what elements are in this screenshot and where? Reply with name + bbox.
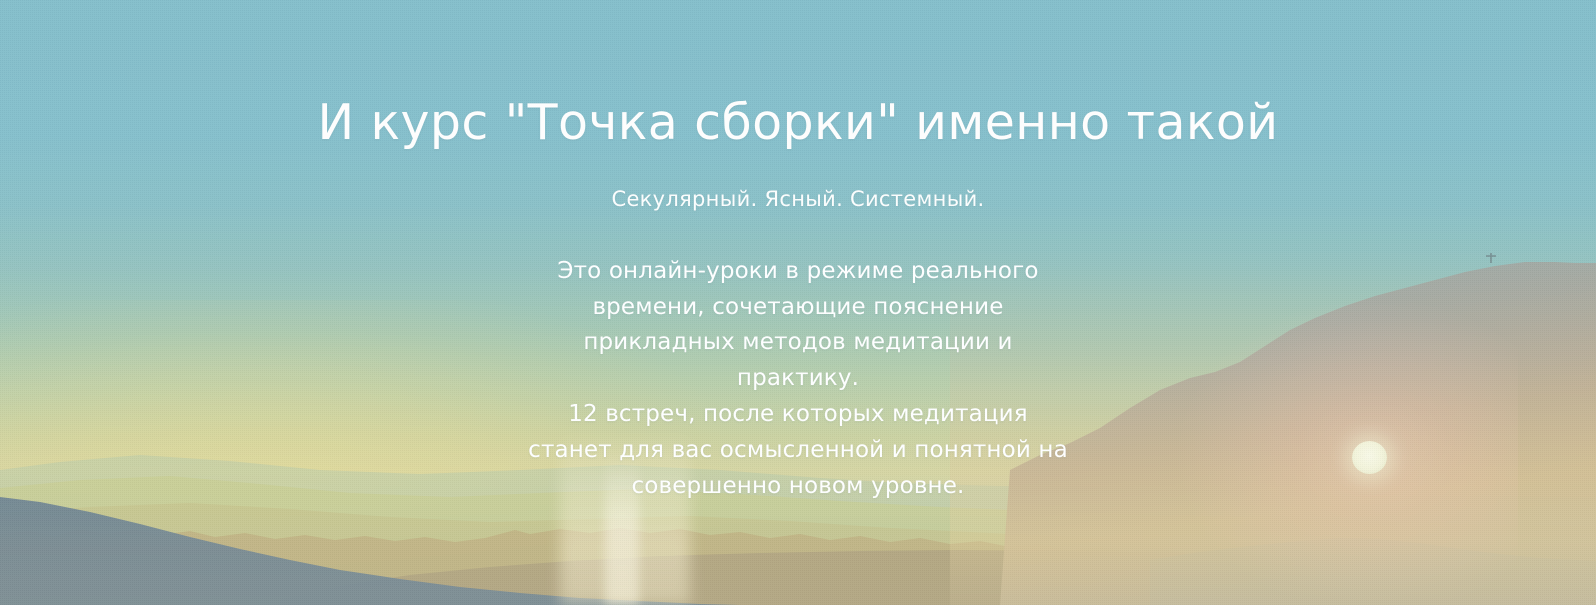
- body-line: Это онлайн-уроки в режиме реального: [528, 254, 1068, 290]
- hero-content: И курс "Точка сборки" именно такой Секул…: [0, 0, 1596, 605]
- hero-subtitle: Секулярный. Ясный. Системный.: [611, 186, 984, 213]
- hero-body-copy: Это онлайн-уроки в режиме реального врем…: [528, 254, 1068, 505]
- body-line: 12 встреч, после которых медитация: [528, 397, 1068, 433]
- page-title: И курс "Точка сборки" именно такой: [317, 97, 1278, 148]
- body-line: практику.: [528, 361, 1068, 397]
- body-line: совершенно новом уровне.: [528, 469, 1068, 505]
- body-line: станет для вас осмысленной и понятной на: [528, 433, 1068, 469]
- body-line: прикладных методов медитации и: [528, 325, 1068, 361]
- hero-section: И курс "Точка сборки" именно такой Секул…: [0, 0, 1596, 605]
- body-line: времени, сочетающие пояснение: [528, 290, 1068, 326]
